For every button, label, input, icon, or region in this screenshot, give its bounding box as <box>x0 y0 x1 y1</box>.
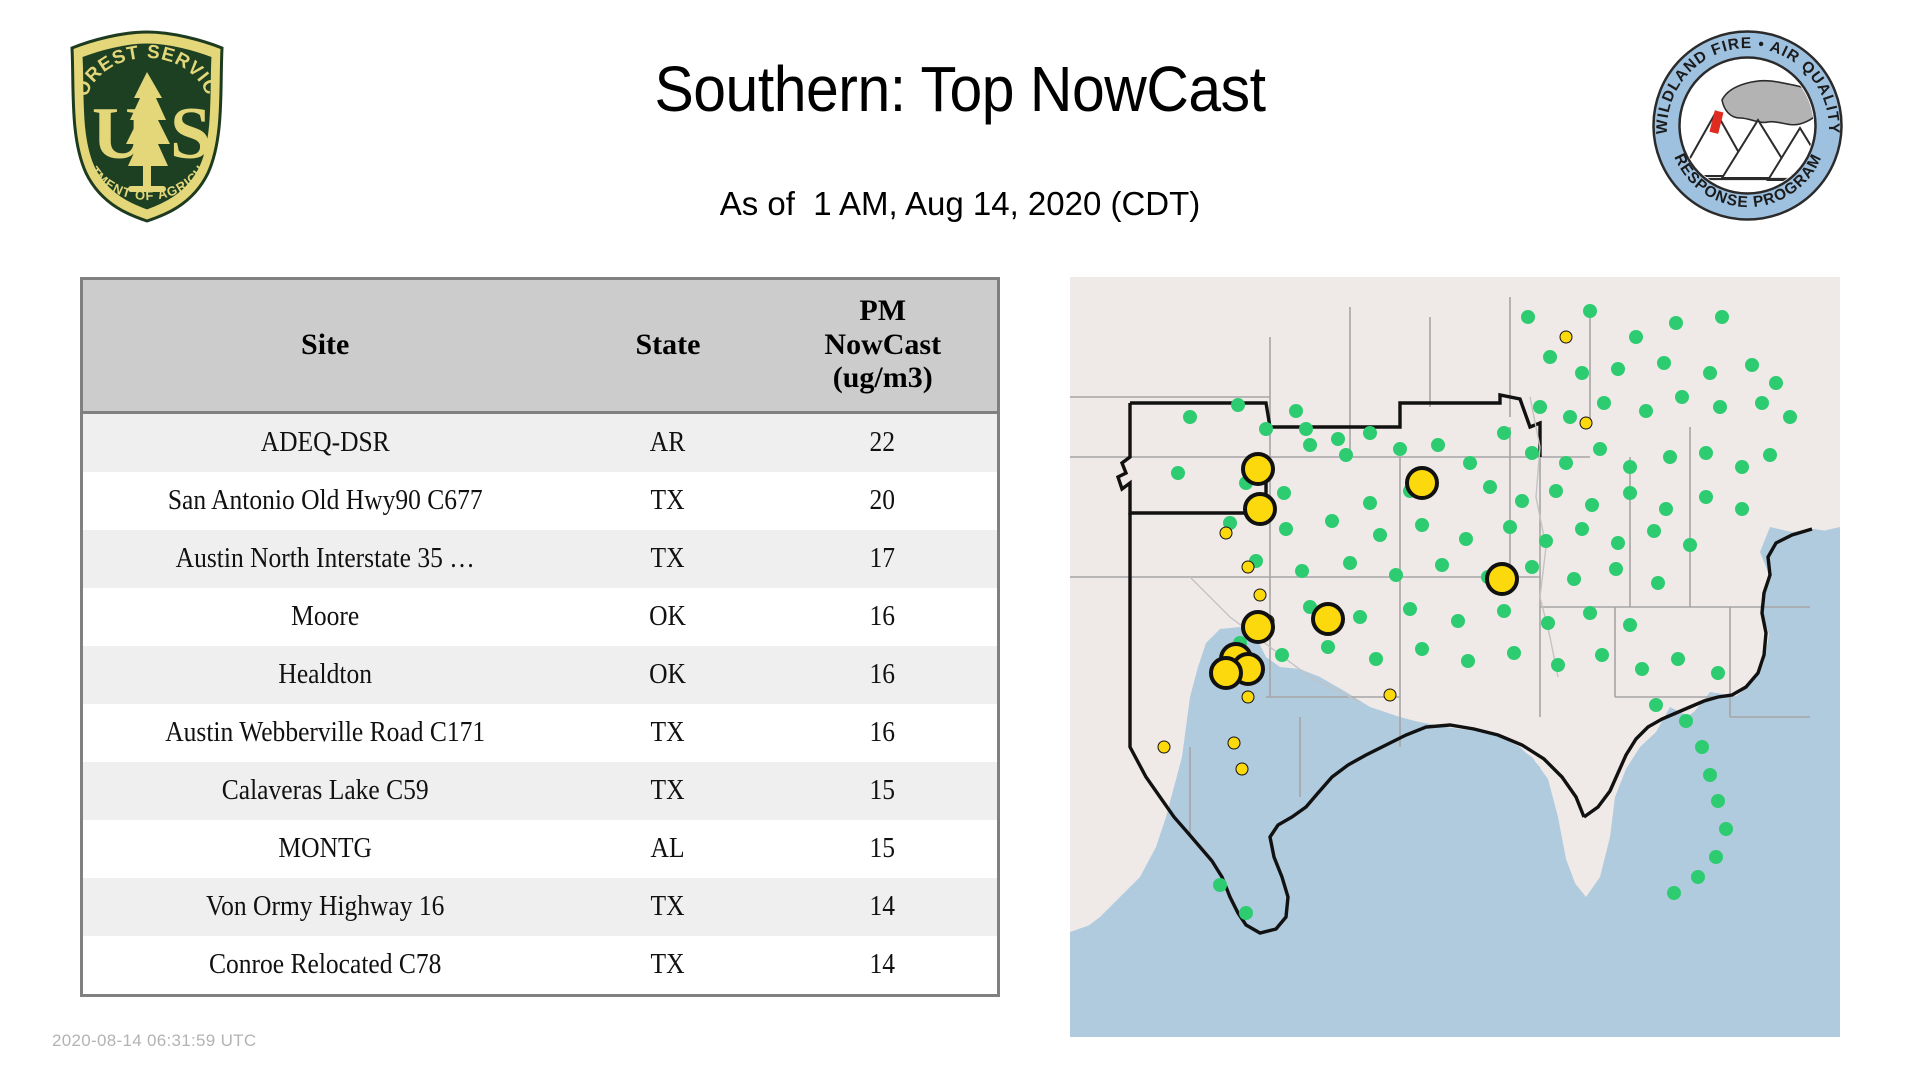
column-header-state[interactable]: State <box>567 280 768 412</box>
land-mass <box>1070 277 1840 1037</box>
cell-site: Moore <box>112 588 538 646</box>
cell-state: TX <box>579 878 756 936</box>
table-row[interactable]: HealdtonOK16 <box>83 646 997 704</box>
cell-state: TX <box>579 472 756 530</box>
footer-timestamp: 2020-08-14 06:31:59 UTC <box>52 1031 256 1051</box>
table-row[interactable]: Conroe Relocated C78TX14 <box>83 936 997 994</box>
column-header-pm-line2: NowCast <box>772 328 993 362</box>
column-header-pm-line3: (ug/m3) <box>772 361 993 395</box>
cell-site: San Antonio Old Hwy90 C677 <box>112 472 538 530</box>
column-header-site[interactable]: Site <box>83 280 567 412</box>
southern-region-aqi-map[interactable]: Air Quality Index HazardousVery Unhealth… <box>1070 277 1840 1037</box>
table-row[interactable]: Austin Webberville Road C171TX16 <box>83 704 997 762</box>
table-row[interactable]: ADEQ-DSRAR22 <box>83 412 997 472</box>
nowcast-table: Site State PM NowCast (ug/m3) ADEQ-DSRAR… <box>80 277 1000 997</box>
table-row[interactable]: San Antonio Old Hwy90 C677TX20 <box>83 472 997 530</box>
cell-pm: 16 <box>782 646 983 704</box>
cell-state: TX <box>579 704 756 762</box>
column-header-pm-line1: PM <box>772 294 993 328</box>
cell-site: Healdton <box>112 646 538 704</box>
table-row[interactable]: Austin North Interstate 35 …TX17 <box>83 530 997 588</box>
column-header-pm[interactable]: PM NowCast (ug/m3) <box>768 280 997 412</box>
page-subtitle: As of 1 AM, Aug 14, 2020 (CDT) <box>0 185 1920 223</box>
cell-site: MONTG <box>112 820 538 878</box>
cell-site: Austin North Interstate 35 … <box>112 530 538 588</box>
cell-pm: 16 <box>782 704 983 762</box>
cell-pm: 15 <box>782 762 983 820</box>
cell-state: OK <box>579 646 756 704</box>
table-row[interactable]: MooreOK16 <box>83 588 997 646</box>
cell-pm: 17 <box>782 530 983 588</box>
cell-site: Calaveras Lake C59 <box>112 762 538 820</box>
page-title: Southern: Top NowCast <box>77 52 1843 126</box>
cell-site: Von Ormy Highway 16 <box>112 878 538 936</box>
cell-site: Conroe Relocated C78 <box>112 936 538 994</box>
cell-pm: 22 <box>782 412 983 472</box>
table-row[interactable]: Von Ormy Highway 16TX14 <box>83 878 997 936</box>
cell-site: ADEQ-DSR <box>112 412 538 472</box>
cell-pm: 16 <box>782 588 983 646</box>
cell-pm: 14 <box>782 936 983 994</box>
cell-state: AR <box>579 412 756 472</box>
cell-pm: 15 <box>782 820 983 878</box>
cell-pm: 20 <box>782 472 983 530</box>
cell-site: Austin Webberville Road C171 <box>112 704 538 762</box>
wfaqrp-logo: WILDLAND FIRE • AIR QUALITY RESPONSE PRO… <box>1650 28 1845 223</box>
table-header-row: Site State PM NowCast (ug/m3) <box>83 280 997 412</box>
cell-state: TX <box>579 530 756 588</box>
cell-state: OK <box>579 588 756 646</box>
table-row[interactable]: Calaveras Lake C59TX15 <box>83 762 997 820</box>
table-row[interactable]: MONTGAL15 <box>83 820 997 878</box>
cell-pm: 14 <box>782 878 983 936</box>
cell-state: AL <box>579 820 756 878</box>
cell-state: TX <box>579 762 756 820</box>
map-graphic <box>1070 277 1840 1037</box>
cell-state: TX <box>579 936 756 994</box>
